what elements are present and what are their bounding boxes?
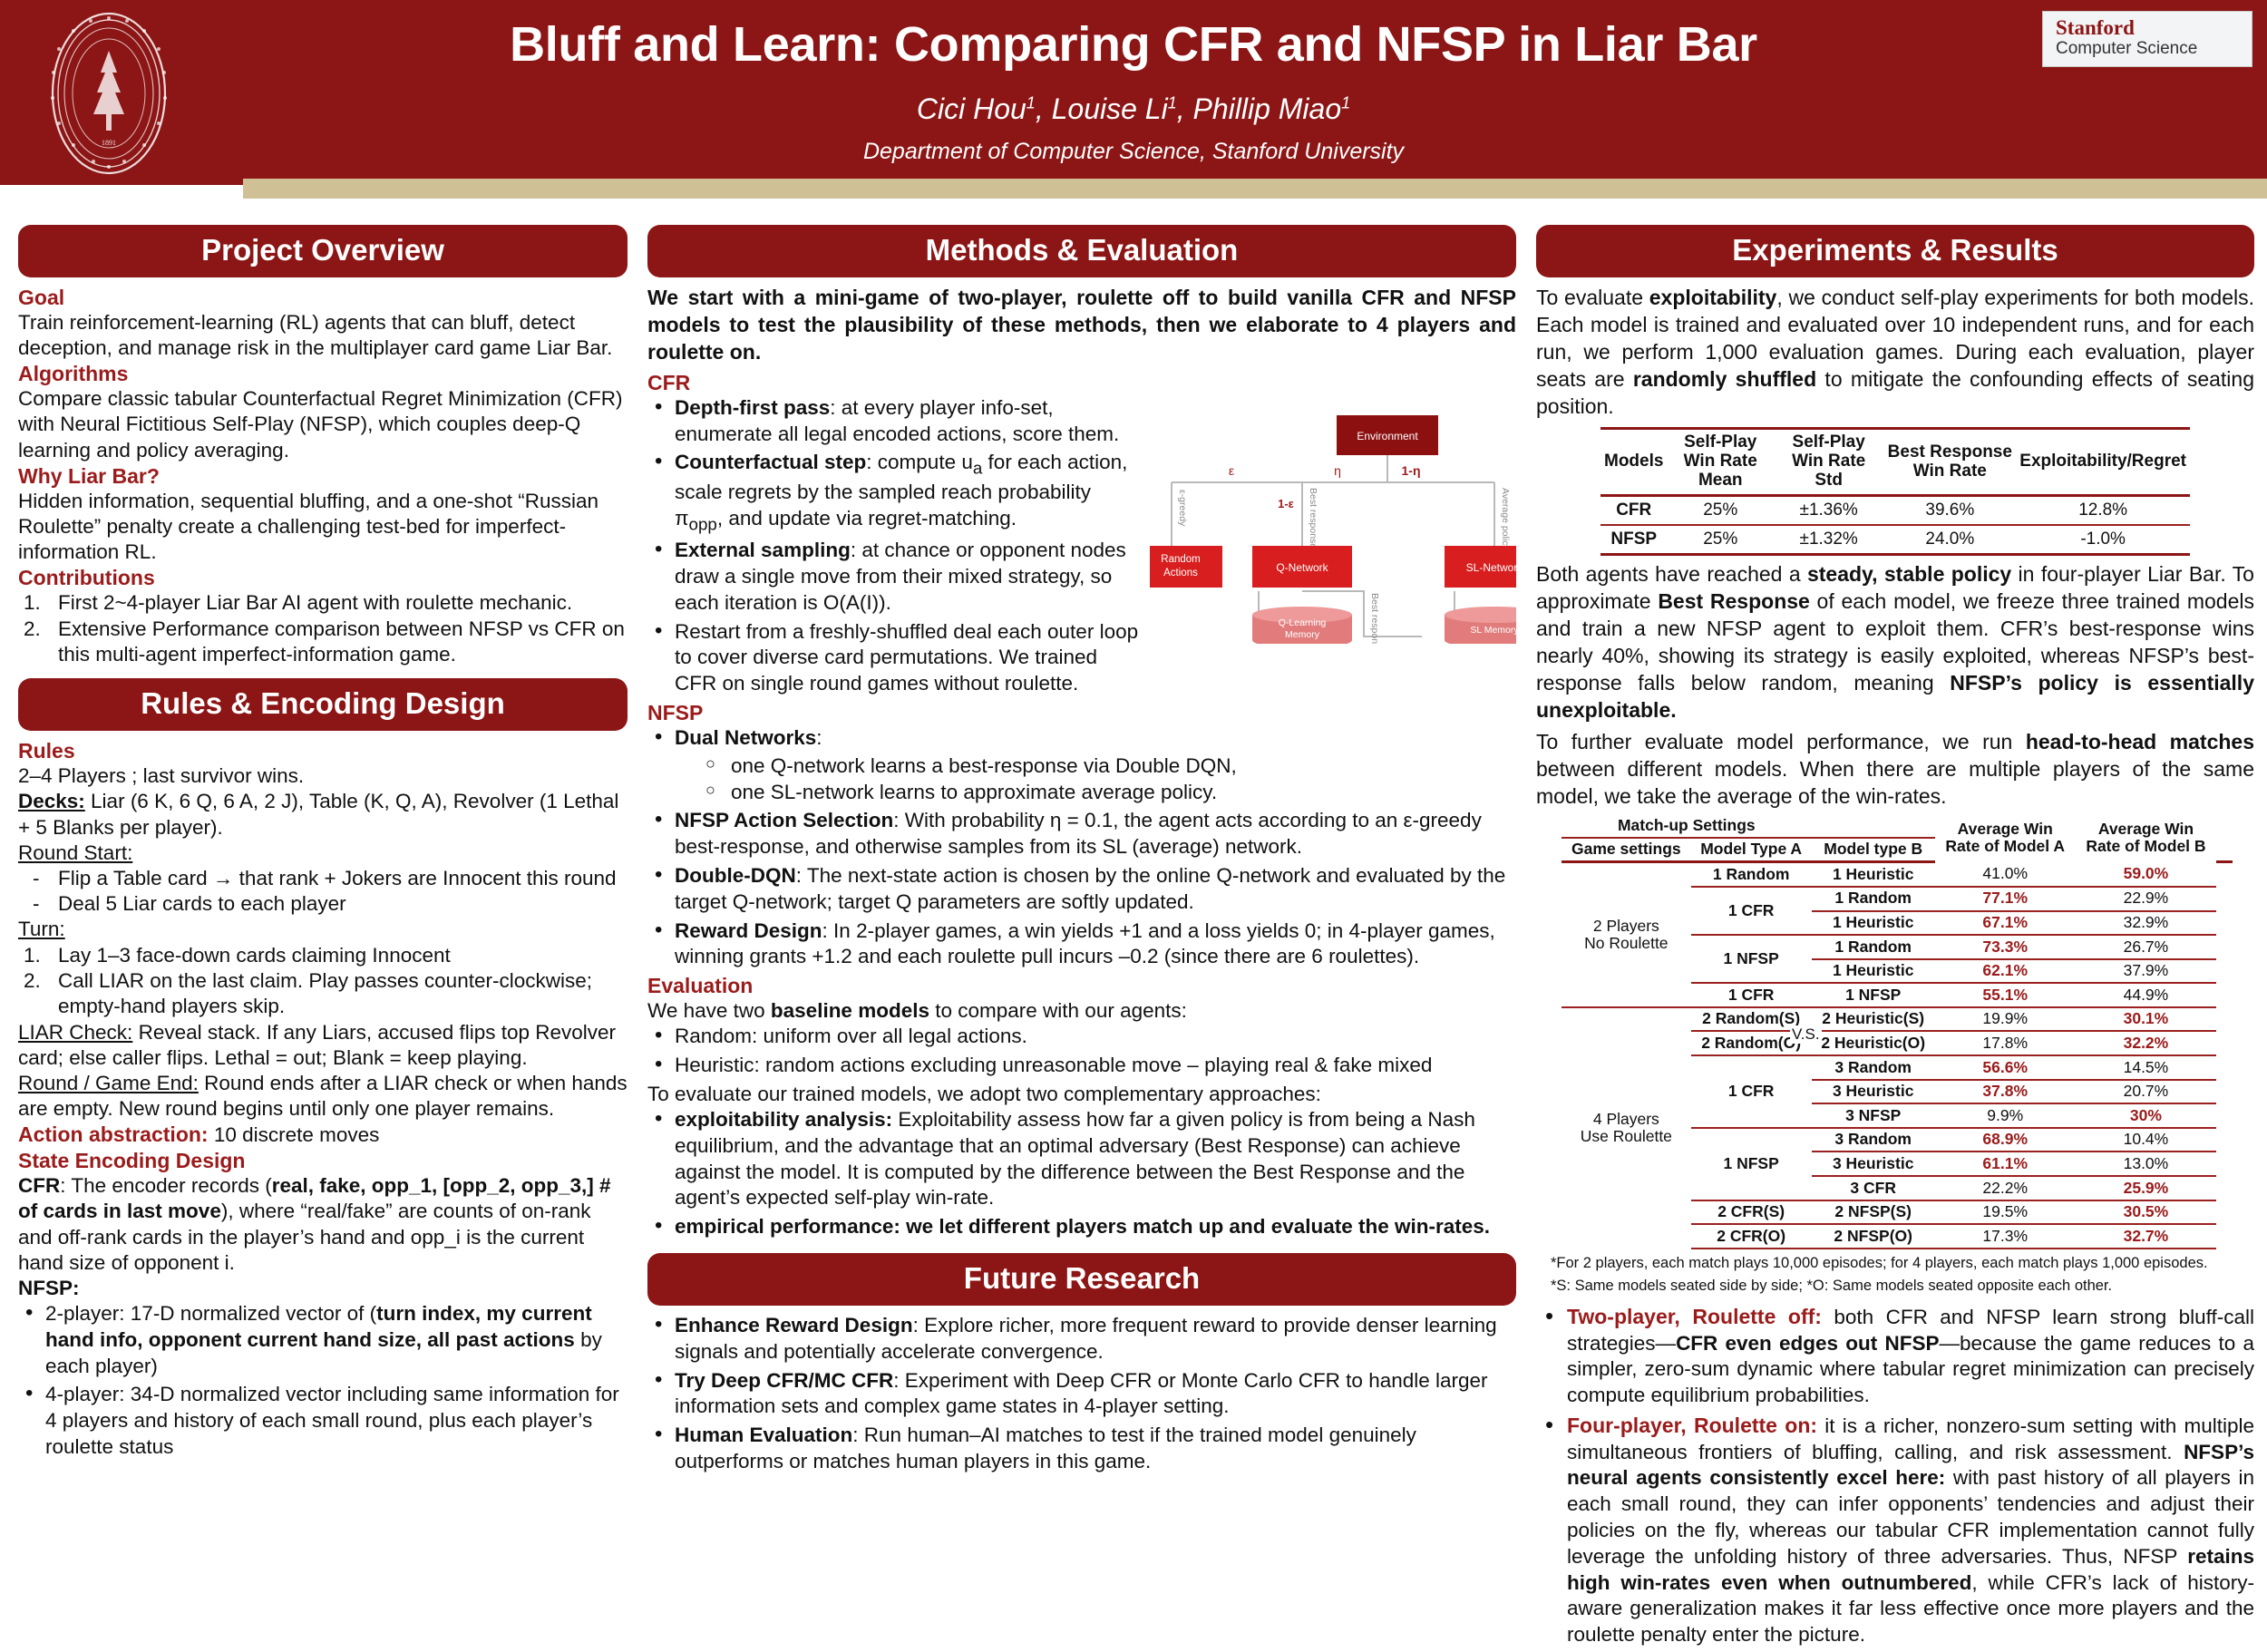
cell-model-a: 2 CFR(S) xyxy=(1691,1200,1812,1225)
label-decks: Decks: xyxy=(18,790,85,812)
header-gold-stripe xyxy=(243,179,2267,199)
cell-model-a: 1 CFR xyxy=(1691,1055,1812,1128)
cell-winrate-a: 55.1% xyxy=(1935,983,2076,1007)
future-0-bold: Enhance Reward Design xyxy=(675,1314,913,1336)
cell-model-a: 1 NFSP xyxy=(1691,1128,1812,1200)
stanford-seal-icon: 1891 xyxy=(23,7,195,180)
cell-winrate-b: 22.9% xyxy=(2076,887,2217,911)
section-header-rules-encoding: Rules & Encoding Design xyxy=(18,678,628,731)
cell-winrate-b: 37.9% xyxy=(2076,959,2217,984)
cell-model-b: 3 Heuristic xyxy=(1812,1152,1935,1176)
cell-model-b: 1 Random xyxy=(1812,935,1935,959)
label-liar-check: LIAR Check: xyxy=(18,1021,132,1044)
exp-p2-a: Both agents have reached a xyxy=(1536,562,1807,586)
list-item: one SL-network learns to approximate ave… xyxy=(705,780,1516,806)
text-eval-intro: We have two baseline models to compare w… xyxy=(647,998,1516,1024)
cell-winrate-b: 25.9% xyxy=(2076,1176,2217,1200)
label-goal: Goal xyxy=(18,285,628,310)
label-round-start: Round Start: xyxy=(18,841,628,866)
list-item: Dual Networks: one Q-network learns a be… xyxy=(647,725,1516,805)
list-item: Deal 5 Liar cards to each player xyxy=(18,891,628,917)
list-item: Heuristic: random actions excluding unre… xyxy=(647,1053,1516,1079)
cell-winrate-a: 19.5% xyxy=(1935,1200,2076,1225)
nfsp-bullet-0-bold: NFSP Action Selection xyxy=(675,809,893,831)
text-experiments-para2: Both agents have reached a steady, stabl… xyxy=(1536,561,2254,724)
cell-winrate-a: 56.6% xyxy=(1935,1055,2076,1080)
label-dual-networks: Dual Networks xyxy=(675,726,816,749)
table-row: 4 PlayersUse Roulette2 Random(S)2 Heuris… xyxy=(1562,1007,2233,1032)
matchup-table: Match-up SettingsAverage WinRate of Mode… xyxy=(1562,814,2233,1249)
cell-model-b: 1 Heuristic xyxy=(1812,911,1935,936)
list-item: Try Deep CFR/MC CFR: Experiment with Dee… xyxy=(647,1368,1516,1421)
table-header-row: Models Self-Play Win Rate Mean Self-Play… xyxy=(1601,429,2190,496)
label-action-abstraction: Action abstraction: xyxy=(18,1122,209,1146)
exp-p2-bold2: Best Response xyxy=(1658,589,1810,613)
table-body: Match-up SettingsAverage WinRate of Mode… xyxy=(1562,814,2233,1249)
cell-model-b: 3 NFSP xyxy=(1812,1103,1935,1128)
col-header-selfplay-std: Self-Play Win Rate Std xyxy=(1774,429,1883,496)
text-decks: Decks: Liar (6 K, 6 Q, 6 A, 2 J), Table … xyxy=(18,789,628,840)
exploitability-table: Models Self-Play Win Rate Mean Self-Play… xyxy=(1601,427,2190,556)
list-item: Call LIAR on the last claim. Play passes… xyxy=(18,968,628,1020)
col-header-exploitability: Exploitability/Regret xyxy=(2016,429,2190,496)
nfsp-bullet-2-bold: Reward Design xyxy=(675,919,822,942)
cell-model-b: 2 NFSP(O) xyxy=(1812,1224,1935,1249)
cell: CFR xyxy=(1601,496,1667,526)
list-item: NFSP Action Selection: With probability … xyxy=(647,808,1516,860)
text-action-abstraction-value: 10 discrete moves xyxy=(209,1123,380,1146)
list-item: 4-player: 34-D normalized vector includi… xyxy=(18,1382,628,1460)
cell-winrate-b: 13.0% xyxy=(2076,1152,2217,1176)
cell-model-b: 1 Heuristic xyxy=(1812,959,1935,984)
list-item: Reward Design: In 2-player games, a win … xyxy=(647,918,1516,971)
cfr-bullet-0-bold: Depth-first pass xyxy=(675,396,830,419)
list-contributions: First 2~4-player Liar Bar AI agent with … xyxy=(18,590,628,667)
cell-winrate-b: 32.2% xyxy=(2076,1031,2217,1055)
list-baselines: Random: uniform over all legal actions. … xyxy=(647,1024,1516,1079)
cell-model-b: 2 NFSP(S) xyxy=(1812,1200,1935,1225)
exp-p3-b: between different models. When there are… xyxy=(1536,757,2254,808)
cell-winrate-b: 14.5% xyxy=(2076,1055,2217,1080)
title-block: Bluff and Learn: Comparing CFR and NFSP … xyxy=(245,5,2022,165)
exp-p3-a: To further evaluate model performance, w… xyxy=(1536,730,2026,753)
poster-root: 1891 Bluff and Learn: Comparing CFR and … xyxy=(0,0,2267,1511)
approach-1-bold: empirical performance: xyxy=(675,1215,900,1238)
conclusion-0-bold: CFR even edges out NFSP xyxy=(1676,1332,1939,1355)
col-header-win-b: Average WinRate of Model B xyxy=(2076,814,2217,862)
text-goal: Train reinforcement-learning (RL) agents… xyxy=(18,310,628,361)
list-item: First 2~4-player Liar Bar AI agent with … xyxy=(18,590,628,616)
text-experiments-para3: To further evaluate model performance, w… xyxy=(1536,729,2254,811)
cell-model-a: 1 CFR xyxy=(1691,887,1812,935)
cell-model-b: 2 Heuristic(S) xyxy=(1812,1007,1935,1032)
label-contributions: Contributions xyxy=(18,565,628,590)
list-item: Double-DQN: The next-state action is cho… xyxy=(647,863,1516,916)
list-item: Lay 1–3 face-down cards claiming Innocen… xyxy=(18,943,628,968)
list-item: exploitability analysis: Exploitability … xyxy=(647,1107,1516,1211)
list-nfsp-bullets: Dual Networks: one Q-network learns a be… xyxy=(647,725,1516,970)
table-footnote-2: *S: Same models seated side by side; *O:… xyxy=(1551,1277,2254,1296)
conclusion-1-label: Four-player, Roulette on: xyxy=(1567,1414,1817,1437)
label-algorithms: Algorithms xyxy=(18,361,628,386)
approach-0-bold: exploitability analysis: xyxy=(675,1108,892,1131)
column-left: Project Overview Goal Train reinforcemen… xyxy=(18,225,628,1463)
cell-winrate-b: 30% xyxy=(2076,1103,2217,1128)
nfsp-item-1-a: 4-player: 34-D normalized vector includi… xyxy=(45,1383,619,1458)
versus-label: V.S. xyxy=(1790,1025,1822,1044)
nfsp-bullet-1-text: : The next-state action is chosen by the… xyxy=(675,864,1505,913)
text-experiments-para1: To evaluate exploitability, we conduct s… xyxy=(1536,285,2254,420)
label-round-start-text: Round Start: xyxy=(18,841,132,864)
table-row: 2 PlayersNo Roulette1 Random1 Heuristic4… xyxy=(1562,862,2233,887)
list-item: Counterfactual step: compute ua for each… xyxy=(647,450,1516,535)
text-cfr-encoding-bold2: last move xyxy=(127,1200,221,1222)
col-header-game-settings: Game settings xyxy=(1562,838,1691,862)
cell-game-setting: 4 PlayersUse Roulette xyxy=(1562,1007,1691,1249)
nfsp-item-0-a: 2-player: 17-D normalized vector of ( xyxy=(45,1302,376,1325)
list-item: Depth-first pass: at every player info-s… xyxy=(647,395,1516,448)
cell-winrate-b: 26.7% xyxy=(2076,935,2217,959)
section-header-future-research: Future Research xyxy=(647,1253,1516,1306)
exp-p1-a: To evaluate xyxy=(1536,286,1649,309)
cell: ±1.32% xyxy=(1774,525,1883,555)
stanford-cs-badge: Stanford Computer Science xyxy=(2042,11,2252,67)
label-rules: Rules xyxy=(18,738,628,763)
list-item: Restart from a freshly-shuffled deal eac… xyxy=(647,619,1516,697)
table-row: NFSP 25% ±1.32% 24.0% -1.0% xyxy=(1601,525,2190,555)
conclusion-0-label: Two-player, Roulette off: xyxy=(1567,1305,1822,1328)
cfr-bullet-1-bold: Counterfactual step xyxy=(675,451,866,473)
col-header-model-b: Model type B xyxy=(1812,838,1935,862)
list-cfr-bullets: Depth-first pass: at every player info-s… xyxy=(647,395,1516,697)
label-nfsp-encoding: NFSP: xyxy=(18,1276,628,1301)
exp-p3-bold: head-to-head matches xyxy=(2026,730,2254,753)
col-header-best-response: Best Response Win Rate xyxy=(1883,429,2016,496)
future-1-bold: Try Deep CFR/MC CFR xyxy=(675,1369,893,1392)
cell-model-b: 3 Heuristic xyxy=(1812,1080,1935,1104)
exp-p2-bold1: steady, stable policy xyxy=(1807,562,2011,586)
list-item: 2-player: 17-D normalized vector of (tur… xyxy=(18,1301,628,1379)
section-header-project-overview: Project Overview xyxy=(18,225,628,277)
cell: 24.0% xyxy=(1883,525,2016,555)
cell-model-b: 3 CFR xyxy=(1812,1176,1935,1200)
col-header-matchup-settings: Match-up Settings xyxy=(1562,814,1812,838)
cfr-bullet-3-text: Restart from a freshly-shuffled deal eac… xyxy=(675,620,1138,695)
label-cfr-encoding: CFR xyxy=(18,1174,60,1197)
approach-1-text: we let different players match up and ev… xyxy=(900,1215,1490,1238)
label-turn-text: Turn: xyxy=(18,918,65,940)
table-body: CFR 25% ±1.36% 39.6% 12.8% NFSP 25% ±1.3… xyxy=(1601,496,2190,555)
cell-winrate-a: 17.3% xyxy=(1935,1224,2076,1249)
table-head: Models Self-Play Win Rate Mean Self-Play… xyxy=(1601,429,2190,496)
col-header-selfplay-mean: Self-Play Win Rate Mean xyxy=(1667,429,1774,496)
cell-winrate-b: 30.1% xyxy=(2076,1007,2217,1032)
column-middle: Methods & Evaluation We start with a min… xyxy=(647,225,1516,1478)
cell-model-a: 1 CFR xyxy=(1691,983,1812,1007)
svg-text:1891: 1891 xyxy=(102,139,116,147)
cell-winrate-b: 32.7% xyxy=(2076,1224,2217,1249)
cell-winrate-b: 59.0% xyxy=(2076,862,2217,887)
cell-winrate-a: 41.0% xyxy=(1935,862,2076,887)
list-item: Human Evaluation: Run human–AI matches t… xyxy=(647,1423,1516,1475)
cell-winrate-a: 17.8% xyxy=(1935,1031,2076,1055)
cell: 12.8% xyxy=(2016,496,2190,526)
cell: -1.0% xyxy=(2016,525,2190,555)
cell-winrate-b: 20.7% xyxy=(2076,1080,2217,1104)
cell-winrate-b: 32.9% xyxy=(2076,911,2217,936)
text-action-abstraction: Action abstraction: 10 discrete moves xyxy=(18,1122,628,1148)
label-nfsp: NFSP xyxy=(647,700,1516,725)
label-cfr: CFR xyxy=(647,370,1516,395)
col-header-win-a: Average WinRate of Model A xyxy=(1935,814,2076,862)
cell-model-b: 3 Random xyxy=(1812,1055,1935,1080)
eval-intro-bold: baseline models xyxy=(771,999,929,1022)
list-turn: Lay 1–3 face-down cards claiming Innocen… xyxy=(18,943,628,1020)
exp-p1-bold2: randomly shuffled xyxy=(1633,367,1816,391)
label-why-liar-bar: Why Liar Bar? xyxy=(18,463,628,489)
cell: NFSP xyxy=(1601,525,1667,555)
list-item: Two-player, Roulette off: both CFR and N… xyxy=(1536,1304,2254,1409)
cell-winrate-a: 61.1% xyxy=(1935,1152,2076,1176)
cell-model-b: 1 NFSP xyxy=(1812,983,1935,1007)
eval-intro-b: to compare with our agents: xyxy=(929,999,1187,1022)
cell-winrate-a: 77.1% xyxy=(1935,887,2076,911)
table-row: CFR 25% ±1.36% 39.6% 12.8% xyxy=(1601,496,2190,526)
text-why-liar-bar: Hidden information, sequential bluffing,… xyxy=(18,489,628,565)
label-turn: Turn: xyxy=(18,917,628,942)
cell-model-a: 1 NFSP xyxy=(1691,935,1812,983)
cell-winrate-a: 19.9% xyxy=(1935,1007,2076,1032)
text-players: 2–4 Players ; last survivor wins. xyxy=(18,763,628,789)
label-evaluation: Evaluation xyxy=(647,973,1516,998)
list-conclusions: Two-player, Roulette off: both CFR and N… xyxy=(1536,1304,2254,1648)
text-approaches-intro: To evaluate our trained models, we adopt… xyxy=(647,1082,1516,1107)
list-item: Four-player, Roulette on: it is a richer… xyxy=(1536,1413,2254,1648)
exp-p1-bold1: exploitability xyxy=(1649,286,1777,309)
cell-winrate-a: 22.2% xyxy=(1935,1176,2076,1200)
cell-winrate-b: 44.9% xyxy=(2076,983,2217,1007)
label-nfsp-encoding-text: NFSP: xyxy=(18,1277,80,1299)
text-liar-check: LIAR Check: Reveal stack. If any Liars, … xyxy=(18,1020,628,1071)
cell: 25% xyxy=(1667,525,1774,555)
cell-winrate-a: 67.1% xyxy=(1935,911,2076,936)
list-item: empirical performance: we let different … xyxy=(647,1214,1516,1240)
author-list: Cici Hou1, Louise Li1, Phillip Miao1 xyxy=(245,92,2022,126)
table-header-group-row: Match-up SettingsAverage WinRate of Mode… xyxy=(1562,814,2233,838)
text-algorithms: Compare classic tabular Counterfactual R… xyxy=(18,386,628,462)
cell-model-b: 1 Random xyxy=(1812,887,1935,911)
cell-winrate-a: 9.9% xyxy=(1935,1103,2076,1128)
column-right: Experiments & Results To evaluate exploi… xyxy=(1536,225,2254,1652)
cell-winrate-a: 62.1% xyxy=(1935,959,2076,984)
page-title: Bluff and Learn: Comparing CFR and NFSP … xyxy=(245,5,2022,73)
badge-stanford-label: Stanford xyxy=(2056,17,2252,39)
list-future-research: Enhance Reward Design: Explore richer, m… xyxy=(647,1313,1516,1475)
col-header-model-a: Model Type A xyxy=(1691,838,1812,862)
section-header-experiments-results: Experiments & Results xyxy=(1536,225,2254,277)
cell-model-a: 1 Random xyxy=(1691,862,1812,887)
future-2-bold: Human Evaluation xyxy=(675,1424,852,1446)
badge-cs-label: Computer Science xyxy=(2056,39,2252,59)
cell-model-a: 2 CFR(O) xyxy=(1691,1224,1812,1249)
list-nfsp-encoding: 2-player: 17-D normalized vector of (tur… xyxy=(18,1301,628,1461)
cell-model-b: 3 Random xyxy=(1812,1128,1935,1152)
cell: 25% xyxy=(1667,496,1774,526)
list-item: one Q-network learns a best-response via… xyxy=(705,753,1516,780)
cell: 39.6% xyxy=(1883,496,2016,526)
list-item: Enhance Reward Design: Explore richer, m… xyxy=(647,1313,1516,1365)
list-approaches: exploitability analysis: Exploitability … xyxy=(647,1107,1516,1240)
col-header-models: Models xyxy=(1601,429,1667,496)
text-decks-value: Liar (6 K, 6 Q, 6 A, 2 J), Table (K, Q, … xyxy=(18,790,618,838)
cell-game-setting: 2 PlayersNo Roulette xyxy=(1562,862,1691,1007)
eval-intro-a: We have two xyxy=(647,999,771,1022)
cell-model-b: 1 Heuristic xyxy=(1812,862,1935,887)
label-round-end: Round / Game End: xyxy=(18,1072,199,1094)
department-line: Department of Computer Science, Stanford… xyxy=(245,139,2022,165)
cell-winrate-b: 10.4% xyxy=(2076,1128,2217,1152)
section-header-methods-evaluation: Methods & Evaluation xyxy=(647,225,1516,277)
cell-winrate-a: 73.3% xyxy=(1935,935,2076,959)
list-round-start: Flip a Table card → that rank + Jokers a… xyxy=(18,866,628,918)
nfsp-bullet-1-bold: Double-DQN xyxy=(675,864,796,887)
text-cfr-encoding-a: : The encoder records ( xyxy=(60,1174,271,1197)
table-footnote-1: *For 2 players, each match plays 10,000 … xyxy=(1551,1254,2254,1273)
text-cfr-encoding: CFR: The encoder records (real, fake, op… xyxy=(18,1173,628,1276)
cell: ±1.36% xyxy=(1774,496,1883,526)
cell-winrate-a: 68.9% xyxy=(1935,1128,2076,1152)
cfr-bullet-2-bold: External sampling xyxy=(675,539,851,561)
label-state-encoding: State Encoding Design xyxy=(18,1148,628,1173)
list-item: Flip a Table card → that rank + Jokers a… xyxy=(18,866,628,891)
cell-model-b: 2 Heuristic(O) xyxy=(1812,1031,1935,1055)
list-dual-networks: one Q-network learns a best-response via… xyxy=(675,753,1516,806)
cell-winrate-a: 37.8% xyxy=(1935,1080,2076,1104)
poster-header: 1891 Bluff and Learn: Comparing CFR and … xyxy=(0,0,2267,185)
cell-winrate-b: 30.5% xyxy=(2076,1200,2217,1225)
list-item: Random: uniform over all legal actions. xyxy=(647,1024,1516,1050)
text-round-end: Round / Game End: Round ends after a LIA… xyxy=(18,1071,628,1122)
list-item: Extensive Performance comparison between… xyxy=(18,617,628,668)
text-methods-intro: We start with a mini-game of two-player,… xyxy=(647,285,1516,366)
list-item: External sampling: at chance or opponent… xyxy=(647,538,1516,616)
